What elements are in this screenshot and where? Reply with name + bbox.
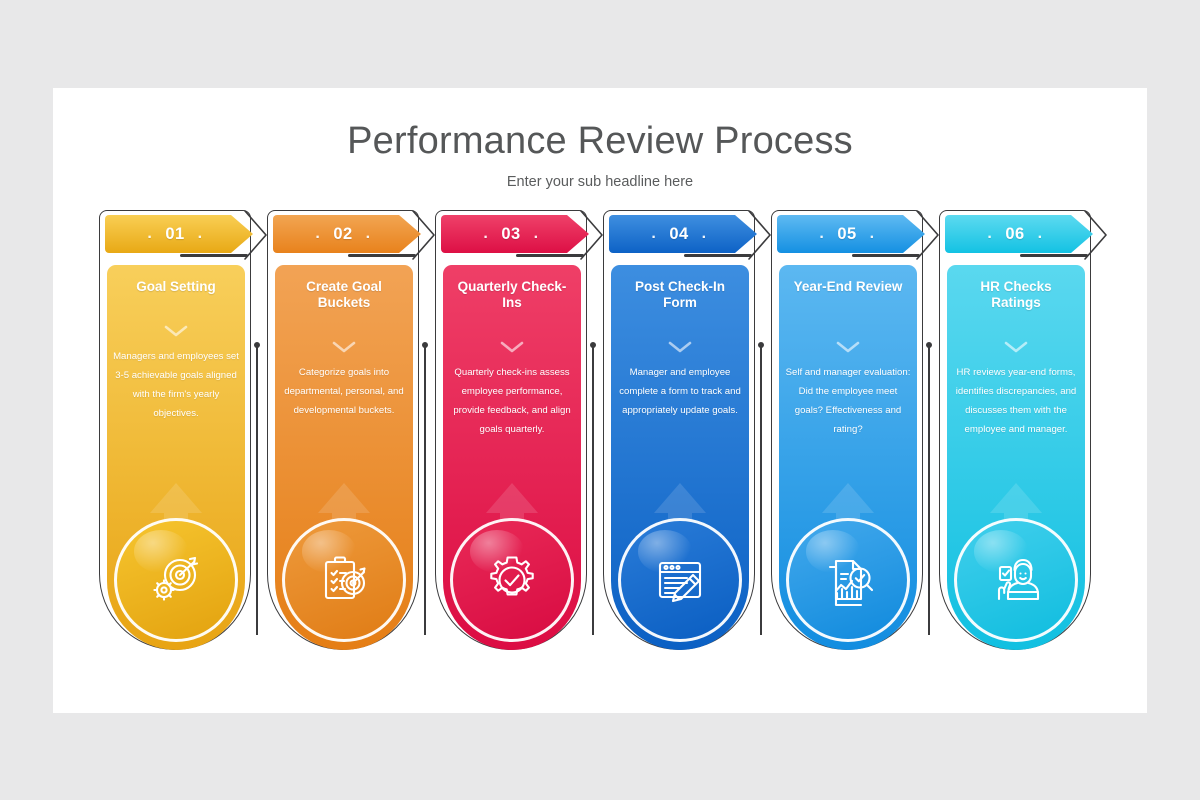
- step-number: 01: [165, 225, 184, 244]
- step-body-panel: Quarterly Check-Ins Quarterly check-ins …: [443, 265, 581, 650]
- step-title: HR Checks Ratings: [955, 279, 1077, 311]
- step-icon-badge[interactable]: [954, 518, 1078, 642]
- chevron-down-icon: [164, 325, 188, 339]
- banner-number-row: . 02 .: [273, 215, 413, 253]
- step-body-panel: Year-End Review Self and manager evaluat…: [779, 265, 917, 650]
- step-body-panel: Create Goal Buckets Categorize goals int…: [275, 265, 413, 650]
- step-card-01[interactable]: . 01 . Goal Setting Managers and employe…: [96, 210, 256, 660]
- step-description: Managers and employees set 3-5 achievabl…: [113, 347, 239, 423]
- banner-dot-left: .: [987, 231, 992, 237]
- banner-dot-right: .: [870, 231, 875, 237]
- gear-check-icon: [453, 521, 571, 639]
- banner-shadow: [516, 254, 584, 257]
- banner-number-row: . 03 .: [441, 215, 581, 253]
- banner-dot-left: .: [147, 231, 152, 237]
- step-body-panel: Post Check-In Form Manager and employee …: [611, 265, 749, 650]
- banner-number-row: . 01 .: [105, 215, 245, 253]
- page-subtitle: Enter your sub headline here: [53, 174, 1147, 190]
- chevron-down-icon: [500, 341, 524, 355]
- step-icon-badge[interactable]: [786, 518, 910, 642]
- banner-number-row: . 04 .: [609, 215, 749, 253]
- step-icon-badge[interactable]: [114, 518, 238, 642]
- slide-canvas: Performance Review Process Enter your su…: [53, 88, 1147, 713]
- banner-shadow: [180, 254, 248, 257]
- step-number: 03: [501, 225, 520, 244]
- banner-dot-left: .: [819, 231, 824, 237]
- banner-dot-right: .: [534, 231, 539, 237]
- banner-dot-right: .: [1038, 231, 1043, 237]
- banner-number-row: . 06 .: [945, 215, 1085, 253]
- step-title: Goal Setting: [115, 279, 237, 295]
- banner-number-row: . 05 .: [777, 215, 917, 253]
- step-number-banner[interactable]: . 02 .: [273, 215, 435, 253]
- step-body-panel: HR Checks Ratings HR reviews year-end fo…: [947, 265, 1085, 650]
- step-card-02[interactable]: . 02 . Create Goal Buckets Categorize go…: [264, 210, 424, 660]
- banner-dot-left: .: [651, 231, 656, 237]
- step-number: 06: [1005, 225, 1024, 244]
- step-number-banner[interactable]: . 04 .: [609, 215, 771, 253]
- page-title: Performance Review Process: [53, 120, 1147, 163]
- step-number-banner[interactable]: . 01 .: [105, 215, 267, 253]
- step-connector-line: [592, 345, 594, 635]
- step-number-banner[interactable]: . 05 .: [777, 215, 939, 253]
- step-description: Quarterly check-ins assess employee perf…: [449, 363, 575, 439]
- step-icon-badge[interactable]: [450, 518, 574, 642]
- banner-dot-left: .: [315, 231, 320, 237]
- banner-shadow: [852, 254, 920, 257]
- step-body-panel: Goal Setting Managers and employees set …: [107, 265, 245, 650]
- step-description: HR reviews year-end forms, identifies di…: [953, 363, 1079, 439]
- step-title: Post Check-In Form: [619, 279, 741, 311]
- target-gear-icon: [117, 521, 235, 639]
- step-title: Create Goal Buckets: [283, 279, 405, 311]
- step-card-05[interactable]: . 05 . Year-End Review Self and manager …: [768, 210, 928, 660]
- step-connector-line: [928, 345, 930, 635]
- step-number: 02: [333, 225, 352, 244]
- banner-dot-right: .: [366, 231, 371, 237]
- step-card-06[interactable]: . 06 . HR Checks Ratings HR reviews year…: [936, 210, 1096, 660]
- banner-dot-right: .: [702, 231, 707, 237]
- step-title: Year-End Review: [787, 279, 909, 295]
- step-number-banner[interactable]: . 06 .: [945, 215, 1107, 253]
- step-connector-line: [256, 345, 258, 635]
- banner-dot-left: .: [483, 231, 488, 237]
- chevron-down-icon: [836, 341, 860, 355]
- step-description: Self and manager evaluation: Did the emp…: [785, 363, 911, 439]
- steps-container: . 01 . Goal Setting Managers and employe…: [96, 210, 1126, 670]
- step-number: 04: [669, 225, 688, 244]
- banner-dot-right: .: [198, 231, 203, 237]
- step-connector-line: [424, 345, 426, 635]
- step-icon-badge[interactable]: [282, 518, 406, 642]
- employee-approved-icon: [957, 521, 1075, 639]
- step-number: 05: [837, 225, 856, 244]
- step-card-03[interactable]: . 03 . Quarterly Check-Ins Quarterly che…: [432, 210, 592, 660]
- banner-shadow: [1020, 254, 1088, 257]
- step-title: Quarterly Check-Ins: [451, 279, 573, 311]
- step-icon-badge[interactable]: [618, 518, 742, 642]
- banner-shadow: [348, 254, 416, 257]
- chevron-down-icon: [332, 341, 356, 355]
- chevron-down-icon: [1004, 341, 1028, 355]
- step-description: Manager and employee complete a form to …: [617, 363, 743, 420]
- step-connector-line: [760, 345, 762, 635]
- step-number-banner[interactable]: . 03 .: [441, 215, 603, 253]
- step-description: Categorize goals into departmental, pers…: [281, 363, 407, 420]
- chevron-down-icon: [668, 341, 692, 355]
- banner-shadow: [684, 254, 752, 257]
- report-magnifier-icon: [789, 521, 907, 639]
- step-card-04[interactable]: . 04 . Post Check-In Form Manager and em…: [600, 210, 760, 660]
- clipboard-target-icon: [285, 521, 403, 639]
- form-pencil-icon: [621, 521, 739, 639]
